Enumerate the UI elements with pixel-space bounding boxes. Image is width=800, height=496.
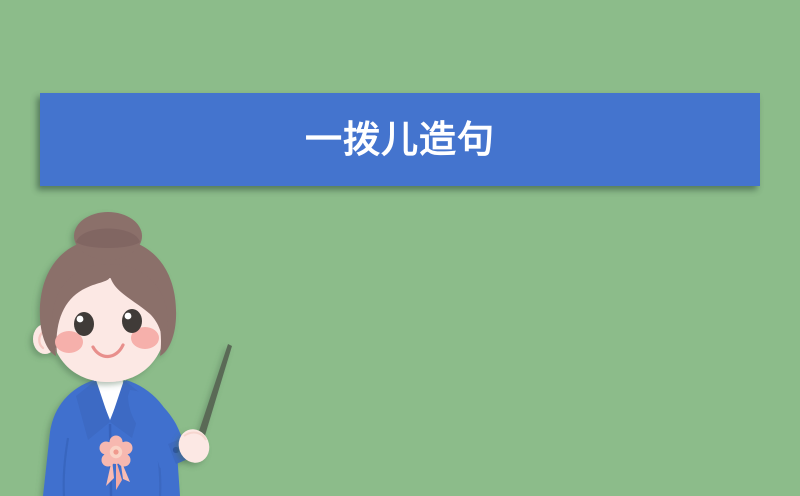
title-banner: 一拨儿造句: [40, 93, 760, 186]
page-title: 一拨儿造句: [305, 121, 495, 158]
eye-left: [74, 312, 94, 336]
eye-right: [122, 309, 142, 333]
teacher-body: [43, 374, 200, 496]
teacher-illustration: [10, 214, 250, 496]
sleeve-button-1: [173, 447, 179, 453]
page-root: 一拨儿造句: [0, 0, 800, 496]
teacher-head: [33, 212, 176, 382]
blush-left: [55, 331, 83, 353]
